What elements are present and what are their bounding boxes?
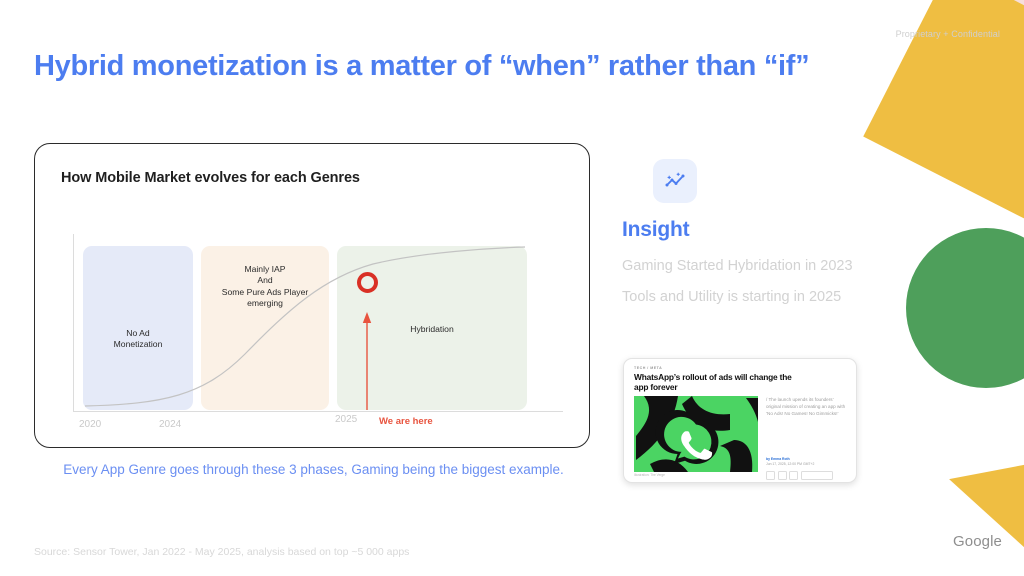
news-thumbnail-image	[634, 396, 758, 472]
comments-button[interactable]	[801, 471, 833, 480]
pink-circle-decoration	[946, 0, 1024, 48]
news-body-text: / The launch upends its founders’ origin…	[766, 397, 848, 418]
trending-up-sparkle-icon	[653, 159, 697, 203]
news-action-buttons[interactable]	[766, 471, 833, 480]
confidentiality-notice: Proprietary + Confidential	[896, 29, 1000, 39]
page-title: Hybrid monetization is a matter of “when…	[34, 50, 809, 83]
news-byline: by Emma Roth Jun 17, 2025, 12:00 PM GMT+…	[766, 457, 814, 467]
x-tick-2020: 2020	[79, 419, 101, 430]
bookmark-icon[interactable]	[778, 471, 787, 480]
insight-line-1: Gaming Started Hybridation in 2023	[622, 258, 853, 274]
x-tick-2024: 2024	[159, 419, 181, 430]
chart-caption: Every App Genre goes through these 3 pha…	[46, 460, 581, 481]
green-circle-decoration	[906, 228, 1024, 388]
we-are-here-label: We are here	[379, 416, 433, 427]
we-are-here-arrow-icon	[361, 310, 373, 410]
google-logo: Google	[953, 533, 1002, 550]
news-image-caption: Illustration: The Verge	[634, 473, 665, 477]
chart-title: How Mobile Market evolves for each Genre…	[61, 170, 360, 186]
source-note: Source: Sensor Tower, Jan 2022 - May 202…	[34, 546, 409, 558]
share-icon[interactable]	[766, 471, 775, 480]
insight-heading: Insight	[622, 218, 689, 242]
news-article-card[interactable]: TECH / META WhatsApp’s rollout of ads wi…	[623, 358, 857, 483]
s-curve-line	[73, 234, 563, 412]
current-position-marker-icon	[357, 272, 378, 293]
news-headline: WhatsApp’s rollout of ads will change th…	[634, 372, 799, 393]
news-kicker: TECH / META	[634, 366, 662, 370]
slide-root: Proprietary + Confidential Hybrid moneti…	[0, 0, 1024, 576]
news-byline-author[interactable]: by Emma Roth	[766, 457, 790, 461]
chart-card: How Mobile Market evolves for each Genre…	[34, 143, 590, 448]
x-tick-2025: 2025	[335, 414, 357, 425]
news-byline-date: Jun 17, 2025, 12:00 PM GMT+2	[766, 462, 814, 466]
insight-line-2: Tools and Utility is starting in 2025	[622, 289, 841, 305]
more-icon[interactable]	[789, 471, 798, 480]
chart-plot-area: No Ad Monetization Mainly IAP And Some P…	[73, 234, 563, 412]
